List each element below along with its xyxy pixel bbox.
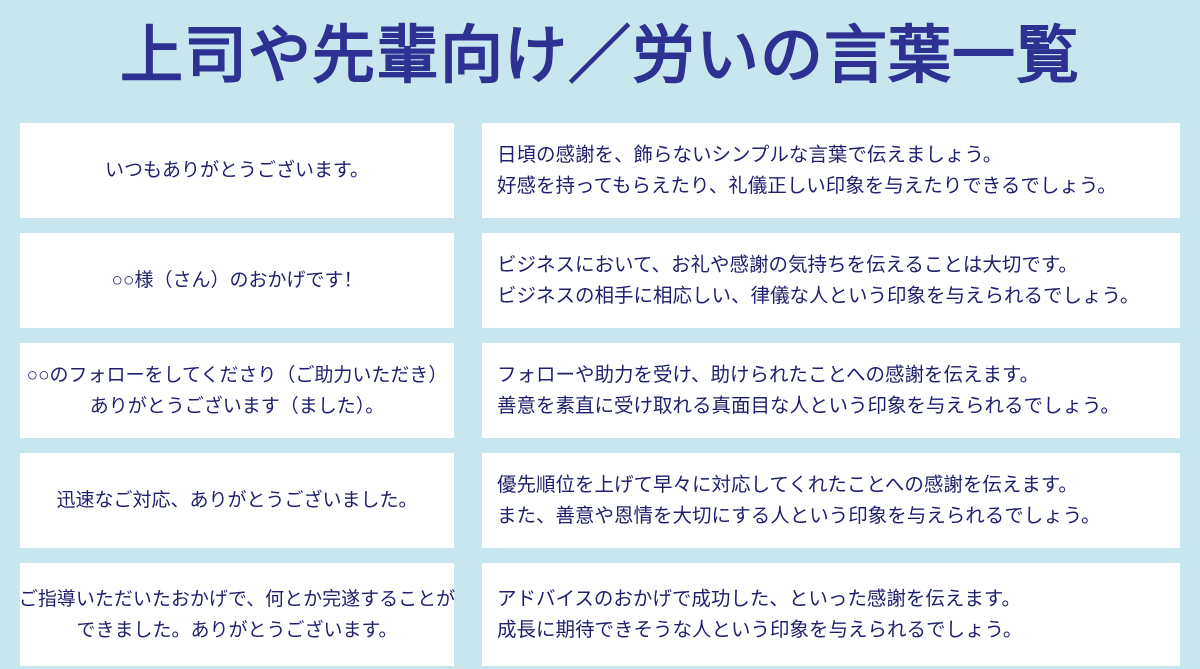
description-line: フォローや助力を受け、助けられたことへの感謝を伝えます。 (497, 360, 1039, 391)
table-row: ○○のフォローをしてくださり（ご助力いただき） ありがとうございます（ました）。… (20, 343, 1180, 438)
column-gap (454, 453, 482, 548)
description-line: ビジネスにおいて、お礼や感謝の気持ちを伝えることは大切です。 (497, 250, 1078, 281)
phrase-line: ご指導いただいたおかげで、何とか完遂することが (19, 584, 455, 615)
description-cell: アドバイスのおかげで成功した、といった感謝を伝えます。 成長に期待できそうな人と… (482, 563, 1180, 666)
column-gap (454, 563, 482, 666)
description-line: 善意を素直に受け取れる真面目な人という印象を与えられるでしょう。 (497, 391, 1120, 422)
table-row: ○○様（さん）のおかげです！ ビジネスにおいて、お礼や感謝の気持ちを伝えることは… (20, 233, 1180, 328)
phrase-table: いつもありがとうございます。 日頃の感謝を、飾らないシンプルな言葉で伝えましょう… (20, 123, 1180, 666)
table-row: ご指導いただいたおかげで、何とか完遂することが できました。ありがとうございます… (20, 563, 1180, 666)
description-line: アドバイスのおかげで成功した、といった感謝を伝えます。 (497, 584, 1021, 615)
description-line: また、善意や恩情を大切にする人という印象を与えられるでしょう。 (497, 501, 1101, 532)
description-line: 好感を持ってもらえたり、礼儀正しい印象を与えたりできるでしょう。 (497, 171, 1117, 202)
phrase-line: 迅速なご対応、ありがとうございました。 (56, 486, 417, 516)
column-gap (454, 123, 482, 218)
page-title: 上司や先輩向け／労いの言葉一覧 (0, 8, 1200, 104)
description-line: 優先順位を上げて早々に対応してくれたことへの感謝を伝えます。 (497, 470, 1078, 501)
description-line: ビジネスの相手に相応しい、律儀な人という印象を与えられるでしょう。 (497, 281, 1139, 312)
phrase-cell: ○○のフォローをしてくださり（ご助力いただき） ありがとうございます（ました）。 (20, 343, 454, 438)
phrase-line: ○○様（さん）のおかげです！ (112, 266, 363, 296)
phrase-cell: いつもありがとうございます。 (20, 123, 454, 218)
phrase-line: ありがとうございます（ました）。 (90, 391, 385, 422)
table-row: 迅速なご対応、ありがとうございました。 優先順位を上げて早々に対応してくれたこと… (20, 453, 1180, 548)
phrase-cell: ご指導いただいたおかげで、何とか完遂することが できました。ありがとうございます… (20, 563, 454, 666)
description-cell: フォローや助力を受け、助けられたことへの感謝を伝えます。 善意を素直に受け取れる… (482, 343, 1180, 438)
phrase-line: ○○のフォローをしてくださり（ご助力いただき） (27, 360, 448, 391)
table-row: いつもありがとうございます。 日頃の感謝を、飾らないシンプルな言葉で伝えましょう… (20, 123, 1180, 218)
phrase-cell: ○○様（さん）のおかげです！ (20, 233, 454, 328)
column-gap (454, 233, 482, 328)
phrase-cell: 迅速なご対応、ありがとうございました。 (20, 453, 454, 548)
description-cell: 日頃の感謝を、飾らないシンプルな言葉で伝えましょう。 好感を持ってもらえたり、礼… (482, 123, 1180, 218)
phrase-line: いつもありがとうございます。 (105, 156, 369, 186)
column-gap (454, 343, 482, 438)
description-cell: ビジネスにおいて、お礼や感謝の気持ちを伝えることは大切です。 ビジネスの相手に相… (482, 233, 1180, 328)
phrase-line: できました。ありがとうございます。 (76, 615, 397, 646)
description-line: 日頃の感謝を、飾らないシンプルな言葉で伝えましょう。 (497, 140, 1002, 171)
infographic-page: 上司や先輩向け／労いの言葉一覧 いつもありがとうございます。 日頃の感謝を、飾ら… (0, 0, 1200, 669)
description-cell: 優先順位を上げて早々に対応してくれたことへの感謝を伝えます。 また、善意や恩情を… (482, 453, 1180, 548)
description-line: 成長に期待できそうな人という印象を与えられるでしょう。 (497, 615, 1022, 646)
